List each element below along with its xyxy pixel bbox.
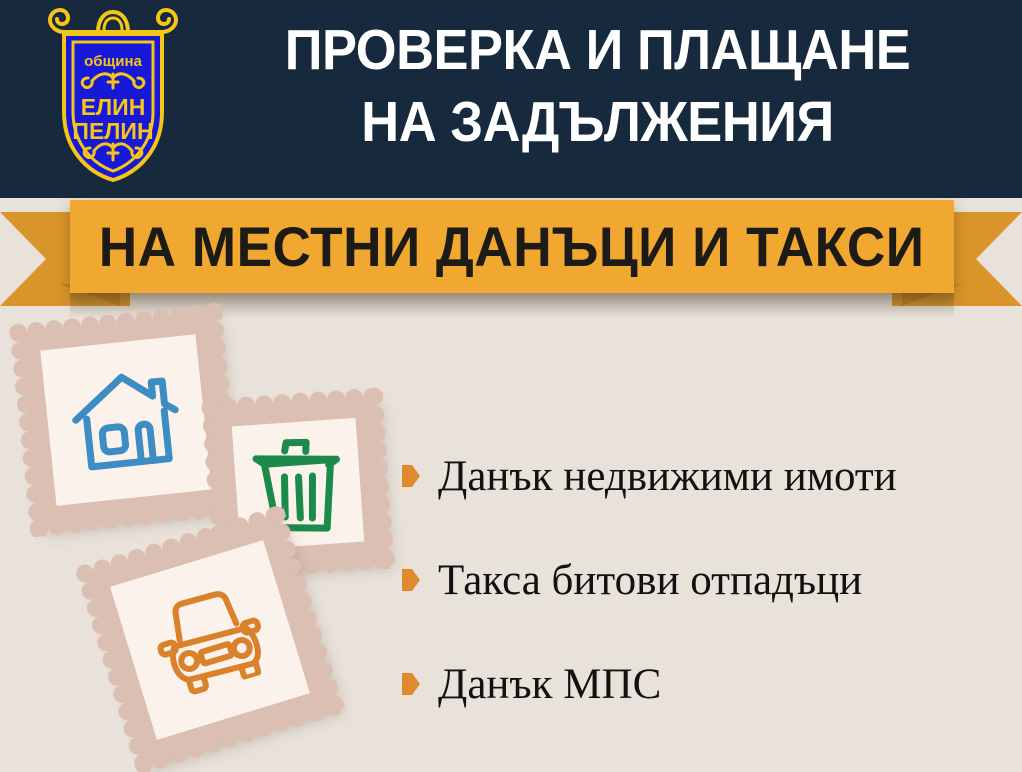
page-title: ПРОВЕРКА И ПЛАЩАНЕ НА ЗАДЪЛЖЕНИЯ xyxy=(223,14,973,158)
bullet-arrow-icon xyxy=(402,673,420,695)
list-item[interactable]: Такса битови отпадъци xyxy=(402,528,1014,632)
header-bar: община ЕЛИН ПЕЛИН ПРОВЕРКА И ПЛАЩАНЕ НА … xyxy=(0,0,1022,198)
logo-text-top: община xyxy=(84,53,142,70)
list-item[interactable]: Данък недвижими имоти xyxy=(402,424,1014,528)
ribbon-text: НА МЕСТНИ ДАНЪЦИ И ТАКСИ xyxy=(99,214,925,279)
poster-root: община ЕЛИН ПЕЛИН ПРОВЕРКА И ПЛАЩАНЕ НА … xyxy=(0,0,1022,772)
page-title-line2: НА ЗАДЪЛЖЕНИЯ xyxy=(223,86,973,158)
logo-text-line1: ЕЛИН xyxy=(81,94,146,120)
list-item-label: Данък МПС xyxy=(438,663,661,706)
ribbon-banner: НА МЕСТНИ ДАНЪЦИ И ТАКСИ xyxy=(70,200,954,293)
logo-text-line2: ПЕЛИН xyxy=(72,118,153,144)
list-item-label: Такса битови отпадъци xyxy=(438,559,862,602)
stamp-face xyxy=(110,540,310,740)
list-item[interactable]: Данък МПС xyxy=(402,632,1014,736)
house-icon xyxy=(66,363,186,478)
municipality-logo: община ЕЛИН ПЕЛИН xyxy=(42,8,184,190)
car-front-icon xyxy=(142,578,277,703)
subtitle-ribbon: НА МЕСТНИ ДАНЪЦИ И ТАКСИ xyxy=(0,196,1022,316)
stamp-vehicle-tax xyxy=(85,515,335,765)
bullet-arrow-icon xyxy=(402,569,420,591)
page-title-line1: ПРОВЕРКА И ПЛАЩАНЕ xyxy=(223,14,973,86)
tax-type-list: Данък недвижими имоти Такса битови отпад… xyxy=(402,424,1014,736)
stamp-edge-right xyxy=(364,387,395,570)
coat-of-arms-icon: община ЕЛИН ПЕЛИН xyxy=(42,8,184,190)
stamp-face xyxy=(40,334,211,505)
bullet-arrow-icon xyxy=(402,465,420,487)
list-item-label: Данък недвижими имоти xyxy=(438,455,897,498)
